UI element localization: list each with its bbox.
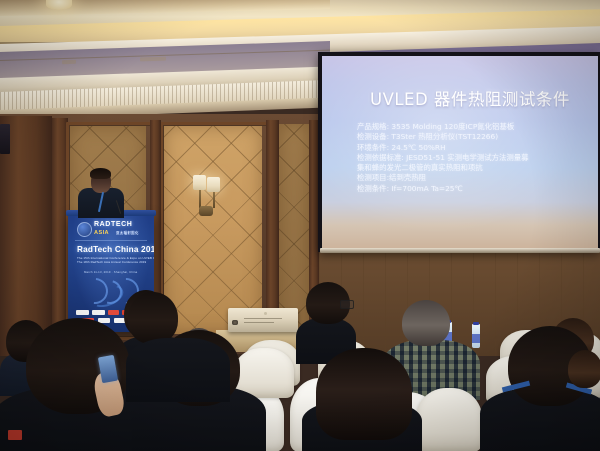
sponsor-logo: [76, 310, 89, 315]
screen-roller-bar: [320, 248, 600, 253]
sponsor-logo: [92, 310, 105, 315]
sponsor-logo: [108, 310, 119, 315]
projector-vent: [244, 318, 282, 319]
podium-event-dates: March 11-13, 2019 · Shanghai, China: [84, 270, 137, 274]
name-badge: [8, 430, 22, 440]
bottle-label: [472, 334, 480, 343]
audience-shoulders: [126, 338, 230, 402]
audience-head: [568, 350, 600, 388]
ceiling-vent-icon: [140, 57, 166, 62]
podium-event-subtitle-2: The 18th RadTech Asia Annual Conference …: [77, 260, 146, 264]
slide-body-line: 检测项目:结到壳热阻: [357, 173, 529, 183]
slide-body-line: 产品规格: 3535 Molding 120度ICP氮化铝基板: [357, 122, 529, 132]
slide-body-line: 集和蜂的发光二极管的真实热阻和项抗: [357, 163, 529, 173]
diamond-woven-wall-panel: [164, 126, 262, 334]
eyeglasses-icon: [340, 300, 354, 309]
projector-vent: [244, 322, 274, 323]
wall-pillar: [266, 120, 279, 340]
audience-head: [128, 292, 178, 344]
podium-brand-region: ASIA: [94, 230, 109, 236]
sconce-arm: [213, 192, 215, 208]
sconce-base: [199, 206, 213, 216]
projector-indicator-icon: [264, 312, 267, 315]
projector: [228, 308, 298, 332]
slide-body-line: 检测条件: If=700mA Ta=25℃: [357, 184, 529, 194]
audience-head-foreground: [316, 348, 412, 440]
slide-body: 产品规格: 3535 Molding 120度ICP氮化铝基板 检测设备: T3…: [357, 122, 529, 194]
projector-lens-icon: [232, 320, 238, 325]
podium-brand-region-suffix: 亚太辐射固化: [116, 230, 139, 235]
ceiling-vent-icon: [62, 60, 76, 64]
sconce-shade-left: [193, 175, 206, 190]
speaker-hair: [90, 168, 111, 179]
radtech-logo-icon: [77, 222, 92, 237]
podium-event-title: RadTech China 2019: [77, 245, 154, 254]
slide-body-line: 环境条件: 24.5℃ 50%RH: [357, 143, 529, 153]
sconce-shade-right: [207, 177, 220, 192]
slide-body-line: 检测设备: T3Ster 热阻分析仪(TST12266): [357, 132, 529, 142]
conference-room-photo: UVLED 器件热阻测试条件 产品规格: 3535 Molding 120度IC…: [0, 0, 600, 451]
bottle-cap-icon: [473, 322, 479, 325]
wall-speaker-icon: [0, 124, 10, 154]
slide-body-line: 检测依据标准: JESD51-51 实测电学测试方法测量募: [357, 153, 529, 163]
chair: [416, 388, 482, 451]
slide-title: UVLED 器件热阻测试条件: [370, 86, 570, 110]
podium-divider: [75, 240, 147, 241]
ceiling-light-icon: [46, 0, 72, 10]
audience-head: [402, 300, 450, 346]
podium-brand-name: RADTECH: [94, 221, 132, 228]
